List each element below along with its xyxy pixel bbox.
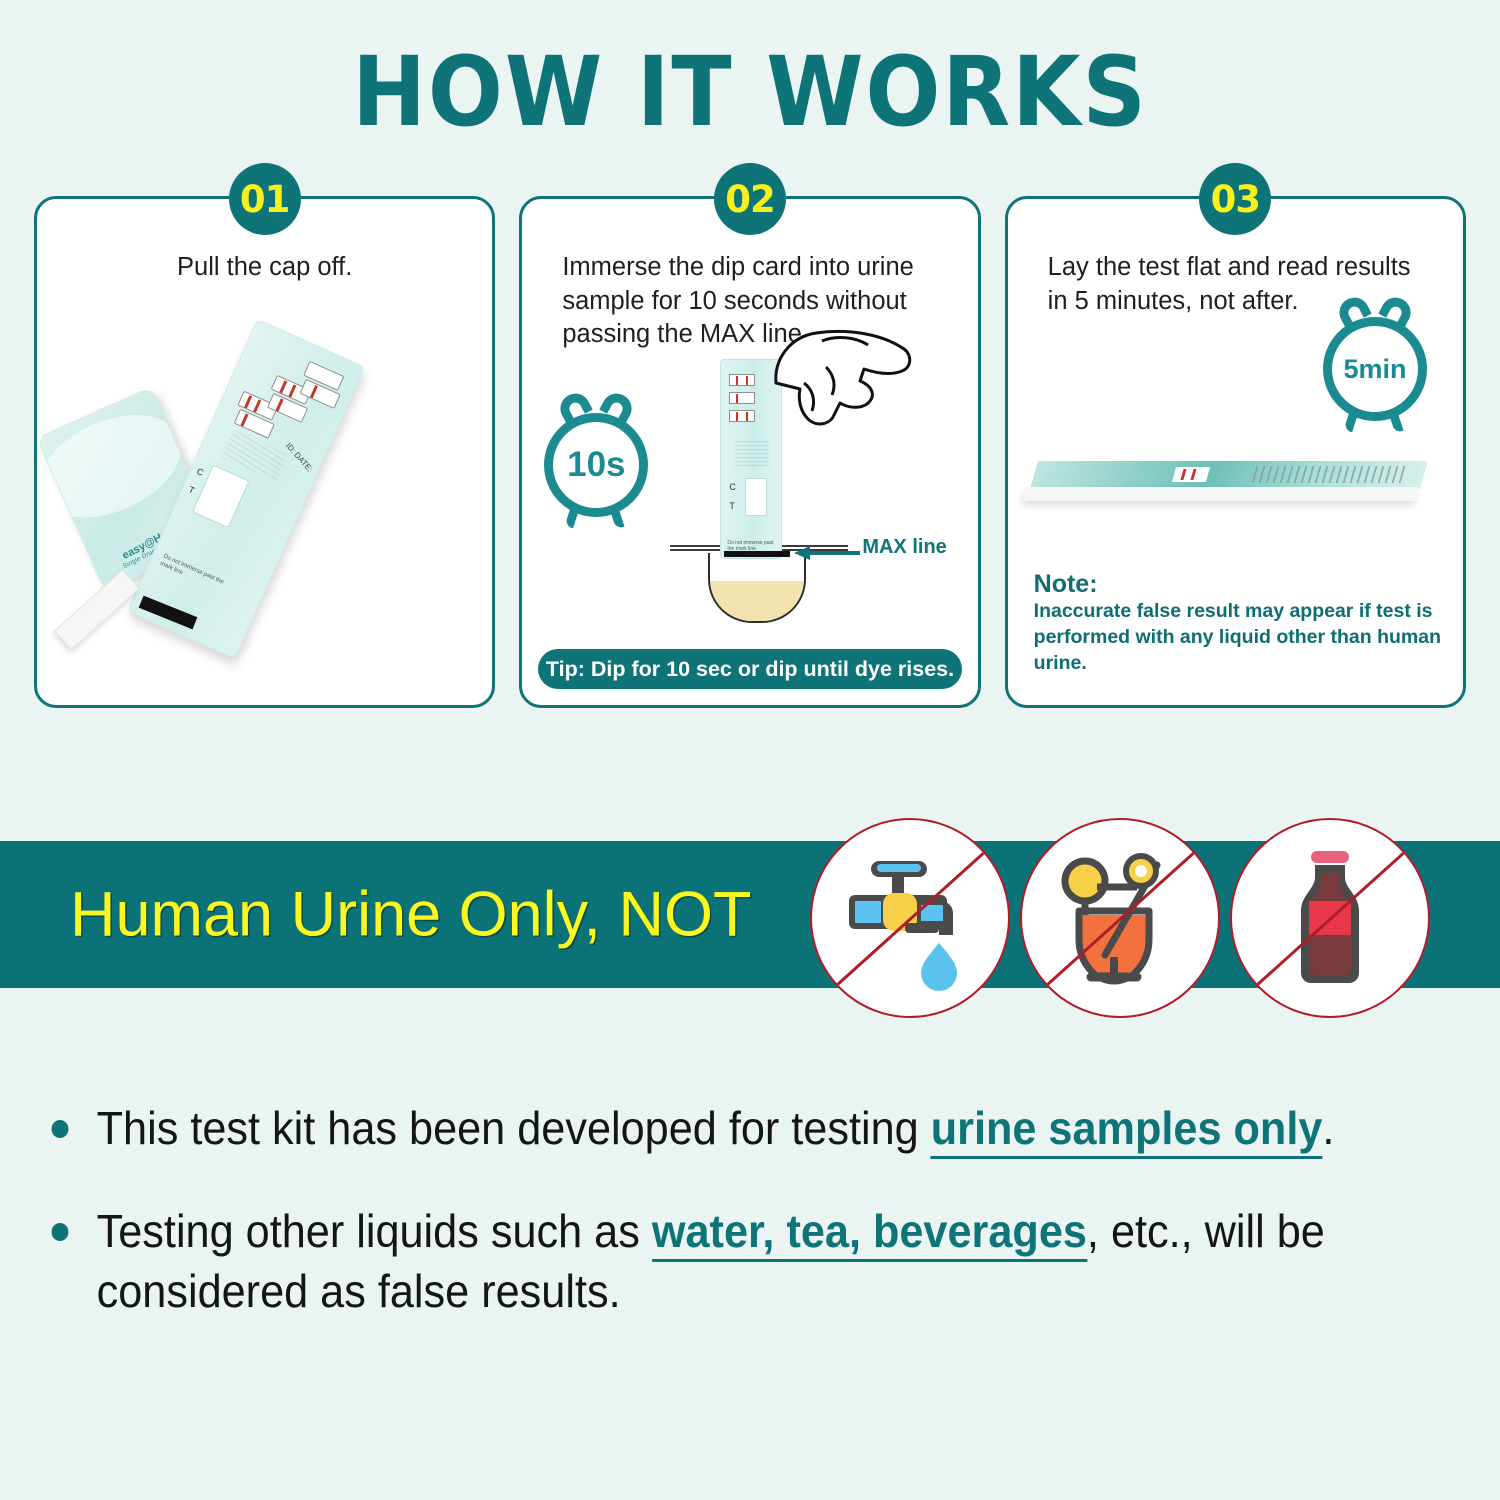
result-window bbox=[1172, 467, 1210, 482]
step-card-1: 01 Pull the cap off. easy@Home Single Dr… bbox=[34, 196, 495, 708]
ct-markers: CT bbox=[729, 478, 736, 516]
bullet-2-lead: Testing other liquids such as bbox=[97, 1205, 652, 1257]
timer-5min-label: 5min bbox=[1332, 326, 1418, 412]
printed-text-lines bbox=[735, 440, 769, 466]
bullet-1-emphasis: urine samples only bbox=[931, 1102, 1323, 1159]
step-2-illustration: 10s CT Do not immerse past the mark line bbox=[522, 317, 977, 645]
bullet-list: This test kit has been developed for tes… bbox=[44, 1098, 1464, 1364]
timer-5min-icon: 5min bbox=[1323, 317, 1427, 421]
step-1-illustration: easy@Home Single Drug Screen Test bbox=[37, 319, 492, 699]
clock-bell-left bbox=[555, 388, 593, 423]
black-mark-line bbox=[139, 596, 198, 630]
no-soda-badge bbox=[1230, 818, 1430, 1018]
timer-10s-icon: 10s bbox=[544, 413, 648, 517]
urine-cup-image bbox=[708, 553, 806, 623]
absorbent-strip bbox=[54, 569, 140, 650]
step-card-3: 03 Lay the test flat and read results in… bbox=[1005, 196, 1466, 708]
steps-row: 01 Pull the cap off. easy@Home Single Dr… bbox=[34, 196, 1466, 708]
flat-test-card-image bbox=[1024, 461, 1424, 505]
clock-bell-right bbox=[599, 388, 637, 423]
no-beverage-badge bbox=[1020, 818, 1220, 1018]
step-3-illustration: 5min bbox=[1008, 309, 1463, 539]
no-water-badge bbox=[810, 818, 1010, 1018]
bullet-2-emphasis: water, tea, beverages bbox=[652, 1205, 1087, 1262]
warning-banner-text: Human Urine Only, NOT bbox=[70, 883, 752, 946]
max-line-mark bbox=[724, 551, 790, 557]
bullet-1-lead: This test kit has been developed for tes… bbox=[97, 1102, 931, 1154]
step-badge-02: 02 bbox=[714, 163, 786, 235]
bullet-item-2: Testing other liquids such as water, tea… bbox=[44, 1201, 1379, 1322]
dip-card-warning: Do not immerse past the mark line bbox=[159, 554, 238, 600]
bullet-1-tail: . bbox=[1322, 1102, 1334, 1154]
result-window bbox=[745, 478, 767, 516]
note-block: Note: Inaccurate false result may appear… bbox=[1034, 570, 1443, 677]
note-body: Inaccurate false result may appear if te… bbox=[1034, 599, 1443, 677]
tip-banner: Tip: Dip for 10 sec or dip until dye ris… bbox=[538, 649, 961, 689]
clock-foot-right bbox=[611, 509, 628, 530]
infographic-page: HOW IT WORKS 01 Pull the cap off. easy@H… bbox=[0, 0, 1500, 1500]
printed-markings bbox=[1251, 466, 1406, 483]
step-card-2: 02 Immerse the dip card into urine sampl… bbox=[519, 196, 980, 708]
bullet-item-1: This test kit has been developed for tes… bbox=[44, 1098, 1379, 1159]
step-badge-03: 03 bbox=[1199, 163, 1271, 235]
urine-liquid bbox=[710, 581, 804, 621]
note-heading: Note: bbox=[1034, 570, 1443, 600]
clock-foot-left bbox=[565, 509, 582, 530]
max-line-arrow-icon bbox=[792, 545, 862, 561]
page-title: HOW IT WORKS bbox=[60, 42, 1440, 143]
step-1-instruction: Pull the cap off. bbox=[63, 251, 466, 285]
step-badge-01: 01 bbox=[229, 163, 301, 235]
timer-10s-label: 10s bbox=[553, 422, 639, 508]
hand-icon bbox=[764, 323, 914, 443]
card-edge bbox=[1022, 487, 1418, 501]
max-line-label: MAX line bbox=[862, 536, 946, 559]
prohibited-liquids-row bbox=[810, 818, 1430, 1018]
clock-foot-left bbox=[1343, 413, 1360, 434]
clock-foot-right bbox=[1389, 413, 1406, 434]
